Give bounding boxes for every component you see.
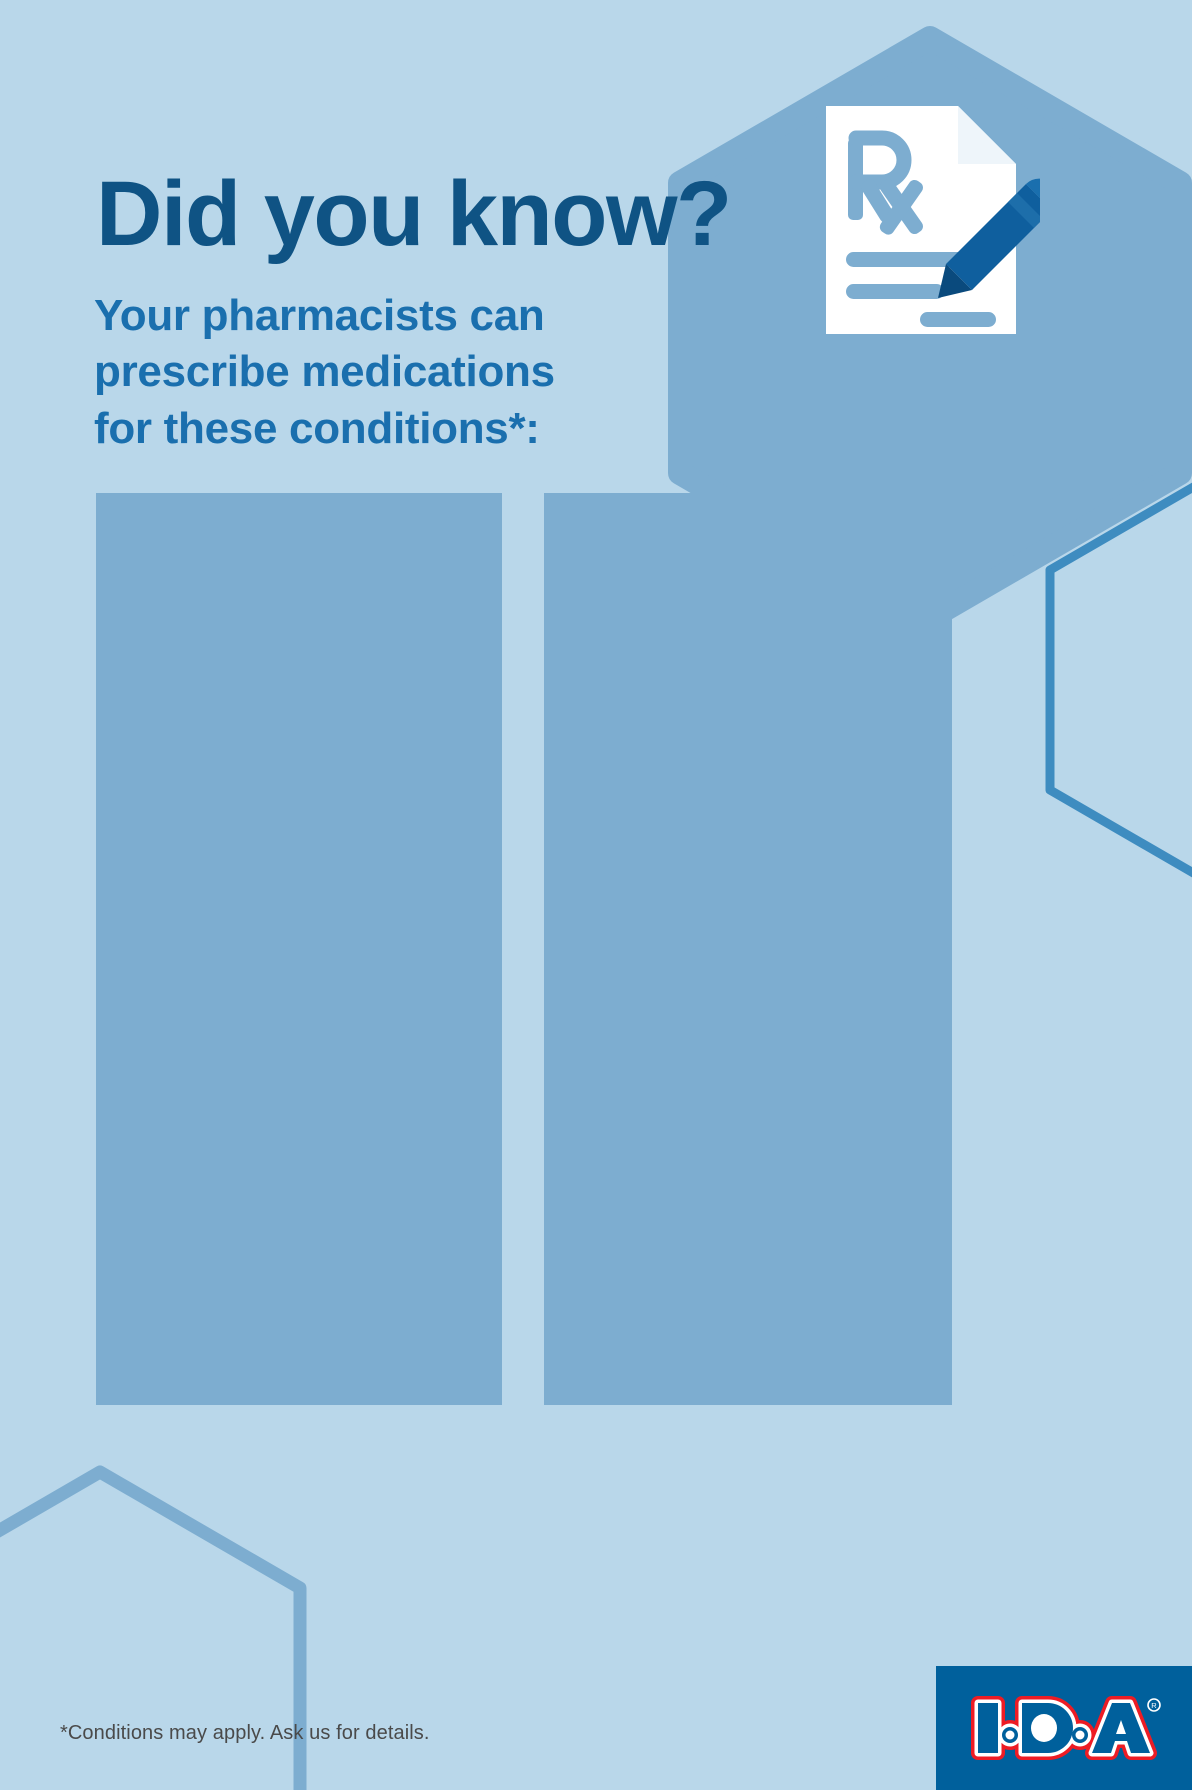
- subheadline: Your pharmacists can prescribe medicatio…: [94, 288, 555, 457]
- logo-d-counter: [1031, 1714, 1057, 1742]
- subheadline-line-3: for these conditions*:: [94, 401, 555, 457]
- document-signature-line: [920, 312, 996, 327]
- document-text-line-2: [846, 284, 944, 299]
- prescription-document-icon: [820, 100, 1040, 340]
- ida-logo-mark: R: [964, 1689, 1164, 1767]
- subheadline-line-2: prescribe medications: [94, 344, 555, 400]
- subheadline-line-1: Your pharmacists can: [94, 288, 555, 344]
- logo-dot-1-inner: [1006, 1731, 1015, 1740]
- page-title: Did you know?: [96, 168, 731, 260]
- conditions-column-right[interactable]: [544, 493, 952, 1405]
- footnote-disclaimer: *Conditions may apply. Ask us for detail…: [60, 1722, 430, 1745]
- hexagon-outline-right: [1050, 460, 1192, 900]
- document-fold-corner: [958, 106, 1016, 164]
- registered-trademark-letter: R: [1151, 1701, 1157, 1710]
- poster-canvas: Did you know? Your pharmacists can presc…: [0, 0, 1192, 1790]
- logo-dot-2-inner: [1076, 1731, 1085, 1740]
- conditions-column-left[interactable]: [96, 493, 502, 1405]
- conditions-panels: [96, 493, 952, 1405]
- ida-logo[interactable]: R: [936, 1666, 1192, 1790]
